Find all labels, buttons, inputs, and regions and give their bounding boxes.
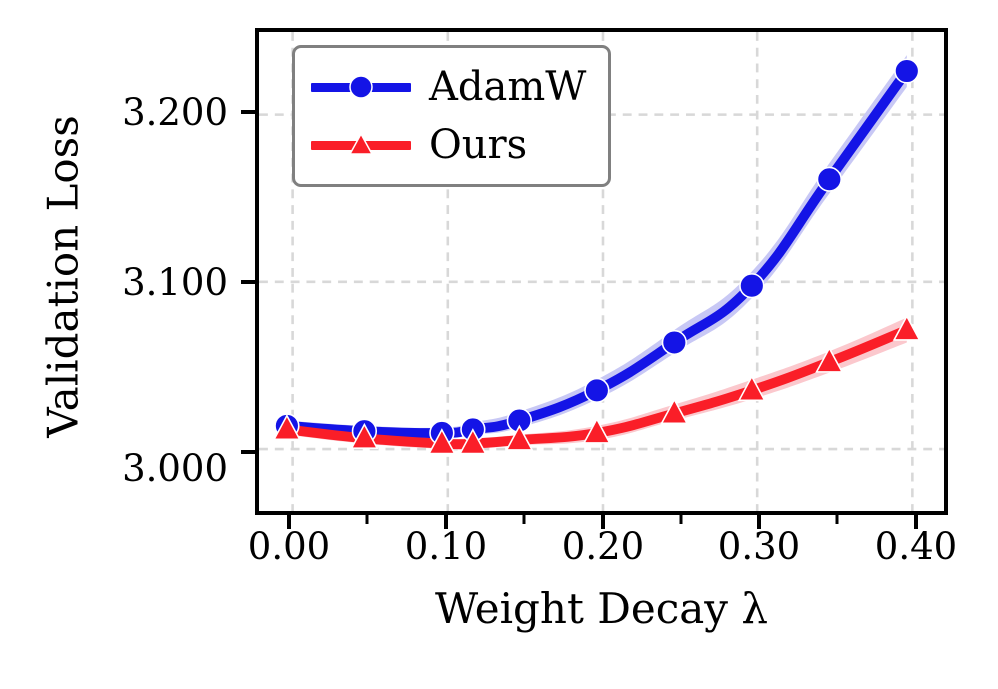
x-tick-label: 0.30 <box>718 528 800 565</box>
data-point-marker-circle <box>740 274 764 298</box>
x-tick-label: 0.00 <box>248 528 330 565</box>
x-axis-title: Weight Decay λ <box>255 584 948 633</box>
legend[interactable]: AdamW Ours <box>292 45 611 187</box>
circle-marker-icon <box>346 72 376 102</box>
legend-entry-adamw[interactable]: AdamW <box>311 58 586 116</box>
data-point-marker-circle <box>895 59 919 83</box>
data-point-marker-circle <box>817 167 841 191</box>
y-axis-tick-labels: 3.200 3.100 3.000 <box>0 0 228 689</box>
triangle-marker-icon <box>346 130 376 160</box>
x-axis-tick-labels: 0.00 0.10 0.20 0.30 0.40 <box>0 528 998 584</box>
x-tick-label: 0.20 <box>562 528 644 565</box>
y-tick-label: 3.100 <box>122 264 228 301</box>
y-axis-title: Validation Loss <box>39 27 88 527</box>
y-tick-label: 3.000 <box>122 450 228 487</box>
legend-label-adamw: AdamW <box>429 67 586 107</box>
legend-key-adamw <box>311 72 411 102</box>
y-tick-label: 3.200 <box>122 94 228 131</box>
data-point-marker-circle <box>585 379 609 403</box>
legend-entry-ours[interactable]: Ours <box>311 116 586 174</box>
x-tick-label: 0.10 <box>405 528 487 565</box>
figure: 3.200 3.100 3.000 Validation Loss <box>0 0 998 689</box>
legend-label-ours: Ours <box>429 125 527 165</box>
legend-key-ours <box>311 130 411 160</box>
x-tick-label: 0.40 <box>875 528 957 565</box>
data-point-marker-circle <box>662 331 686 355</box>
